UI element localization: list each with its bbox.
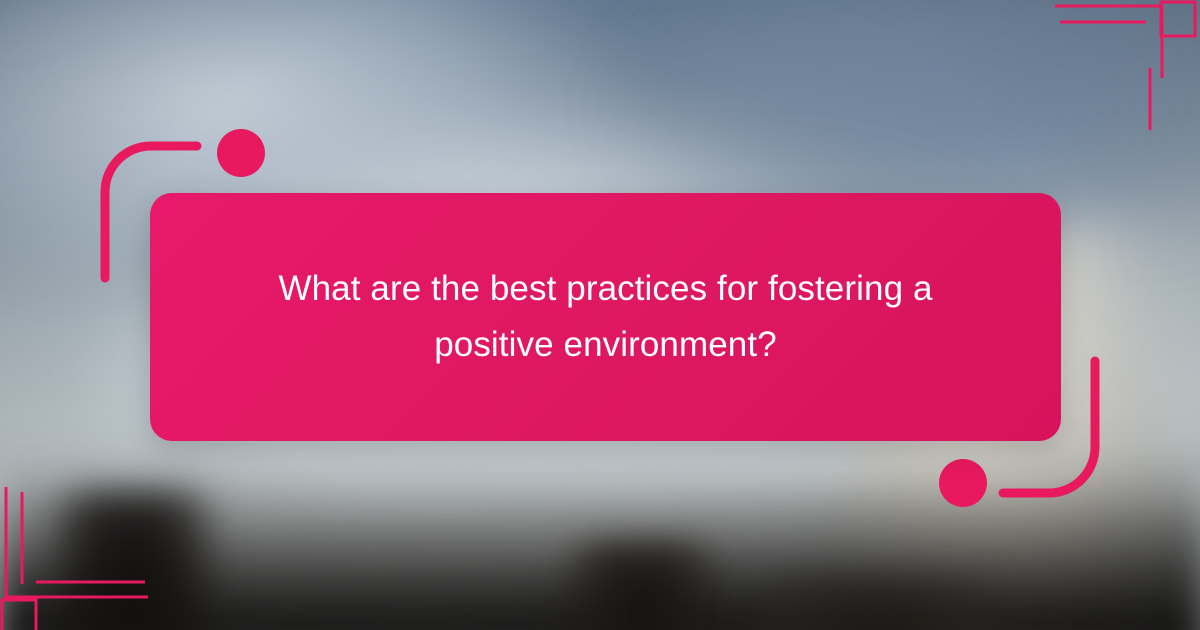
question-text: What are the best practices for fosterin…	[200, 261, 1012, 373]
bottom-right-dot-icon	[938, 458, 988, 508]
question-card: What are the best practices for fosterin…	[150, 193, 1061, 441]
top-left-dot-icon	[216, 128, 266, 178]
poster-canvas: What are the best practices for fosterin…	[0, 0, 1200, 630]
